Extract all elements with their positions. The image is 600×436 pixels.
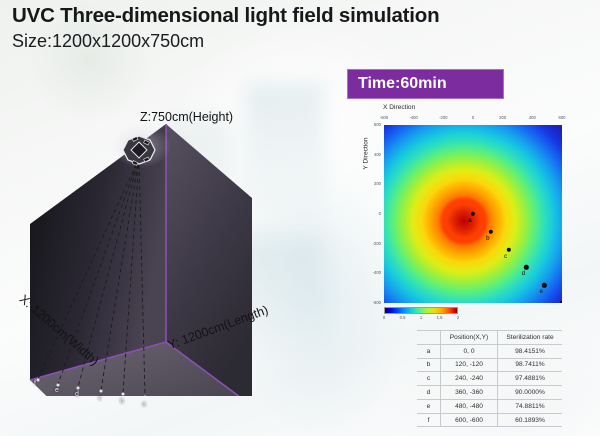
cell-position: 480, -480 (441, 399, 498, 413)
table-row: c240, -24097.4881% (417, 372, 562, 386)
cell-key: a (417, 344, 441, 358)
colorbar-tick-label: 1.5 (437, 315, 443, 320)
floor-point-label: b (120, 398, 124, 405)
cell-key: c (417, 372, 441, 386)
room-label-z: Z:750cm(Height) (140, 110, 233, 124)
cell-rate: 97.4881% (498, 372, 563, 386)
heatmap-point-label-b: b (486, 235, 489, 242)
table-body: a0, 098.4151%b120, -12098.7411%c240, -24… (417, 344, 562, 427)
cell-key: b (417, 358, 441, 372)
table-row: d360, -36090.0000% (417, 386, 562, 400)
heatmap-point-label-c: c (504, 253, 507, 260)
floor-point-label: a (142, 401, 146, 408)
table-row: b120, -12098.7411% (417, 358, 562, 372)
x-tick-label: -600 (380, 115, 388, 120)
x-tick-label: -200 (439, 115, 447, 120)
colorbar-tick-label: 0.5 (400, 315, 406, 320)
heatmap-point-label-a: a (468, 217, 471, 224)
cell-position: 240, -240 (441, 372, 498, 386)
heatmap-panel: X Direction Y Direction -600-400-2000200… (358, 104, 590, 330)
time-banner-label: Time:60min (358, 75, 447, 93)
heatmap-point-label-d: d (522, 270, 525, 277)
cell-key: d (417, 386, 441, 400)
x-tick-label: 200 (499, 115, 506, 120)
floor-point-label: f (34, 380, 36, 387)
table-row: e480, -48074.8811% (417, 399, 562, 413)
table-row: f600, -60060.1893% (417, 413, 562, 427)
colorbar-tick-label: 0 (383, 315, 385, 320)
heatmap-y-axis-title: Y Direction (363, 124, 370, 184)
heatmap-colorbar: 00.511.52 (384, 307, 458, 314)
cell-key: f (417, 413, 441, 427)
table-header-key (417, 331, 441, 345)
cell-position: 0, 0 (441, 344, 498, 358)
time-banner: Time:60min (347, 69, 504, 99)
heatmap-plot-area: abcdef (384, 125, 562, 303)
x-tick-label: -400 (409, 115, 417, 120)
cell-position: 600, -600 (441, 413, 498, 427)
cell-rate: 60.1893% (498, 413, 563, 427)
heatmap-point-f (560, 301, 562, 303)
table-header-position: Position(X,Y) (441, 331, 498, 345)
table-header-row: Position(X,Y) Sterilization rate (417, 331, 562, 345)
x-tick-label: 0 (472, 115, 474, 120)
colorbar-tick-label: 1 (420, 315, 422, 320)
x-tick-label: 600 (559, 115, 566, 120)
cell-rate: 98.7411% (498, 358, 563, 372)
cell-rate: 74.8811% (498, 399, 563, 413)
cell-rate: 90.0000% (498, 386, 563, 400)
room-3d-diagram: Z:750cm(Height) X: 1200cm(Width) Y: 1200… (8, 96, 308, 396)
floor-point-label: e (55, 387, 59, 394)
colorbar-tick-label: 2 (457, 315, 459, 320)
floor-point-label: c (98, 395, 102, 402)
cell-key: e (417, 399, 441, 413)
x-tick-label: 400 (529, 115, 536, 120)
sterilization-data-table: Position(X,Y) Sterilization rate a0, 098… (417, 330, 562, 427)
floor-point-label: d (75, 391, 79, 398)
page-title: UVC Three-dimensional light field simula… (12, 4, 439, 28)
page-subtitle: Size:1200x1200x750cm (12, 31, 204, 52)
cell-position: 120, -120 (441, 358, 498, 372)
heatmap-x-axis-title: X Direction (383, 104, 415, 111)
colorbar-gradient (384, 307, 458, 314)
heatmap-point-label-e: e (539, 288, 542, 295)
table-row: a0, 098.4151% (417, 344, 562, 358)
table-header-rate: Sterilization rate (498, 331, 563, 345)
cell-rate: 98.4151% (498, 344, 563, 358)
cell-position: 360, -360 (441, 386, 498, 400)
